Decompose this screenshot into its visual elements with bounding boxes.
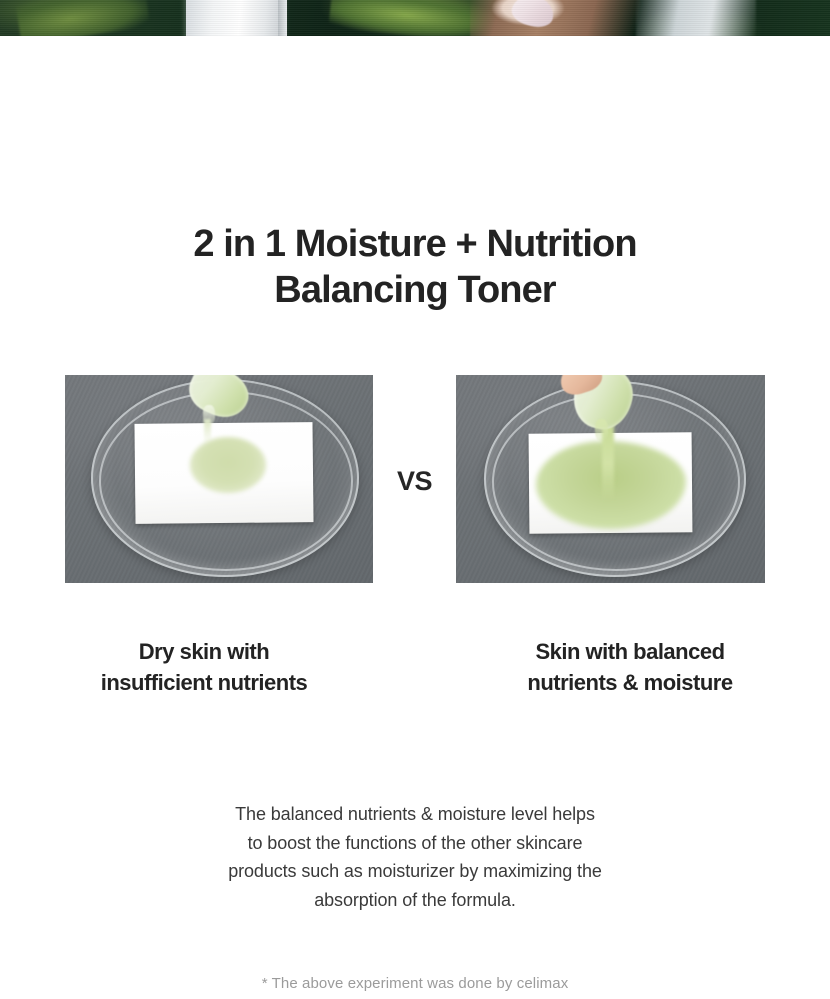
hero-photo-strip — [0, 0, 830, 36]
dropper-tip-left — [203, 405, 215, 425]
caption-right-line-2: nutrients & moisture — [470, 667, 790, 698]
caption-right-line-1: Skin with balanced — [470, 636, 790, 667]
description-paragraph: The balanced nutrients & moisture level … — [115, 800, 715, 914]
photo-scanline-overlay — [0, 0, 830, 36]
page-title-line-1: 2 in 1 Moisture + Nutrition — [0, 221, 830, 267]
description-line-3: products such as moisturizer by maximizi… — [115, 857, 715, 886]
caption-left-line-2: insufficient nutrients — [49, 667, 359, 698]
comparison-photo-left — [65, 375, 373, 583]
versus-label: VS — [373, 466, 456, 497]
caption-right: Skin with balanced nutrients & moisture — [470, 636, 790, 698]
description-line-4: absorption of the formula. — [115, 886, 715, 915]
page-title-line-2: Balancing Toner — [0, 267, 830, 313]
caption-left-line-1: Dry skin with — [49, 636, 359, 667]
footnote-text: * The above experiment was done by celim… — [0, 975, 830, 992]
comparison-photo-right — [456, 375, 765, 583]
toner-stain-small — [190, 437, 266, 493]
dropper-tip-right — [595, 419, 608, 441]
description-line-2: to boost the functions of the other skin… — [115, 829, 715, 858]
caption-left: Dry skin with insufficient nutrients — [49, 636, 359, 698]
page-title: 2 in 1 Moisture + Nutrition Balancing To… — [0, 221, 830, 313]
description-line-1: The balanced nutrients & moisture level … — [115, 800, 715, 829]
